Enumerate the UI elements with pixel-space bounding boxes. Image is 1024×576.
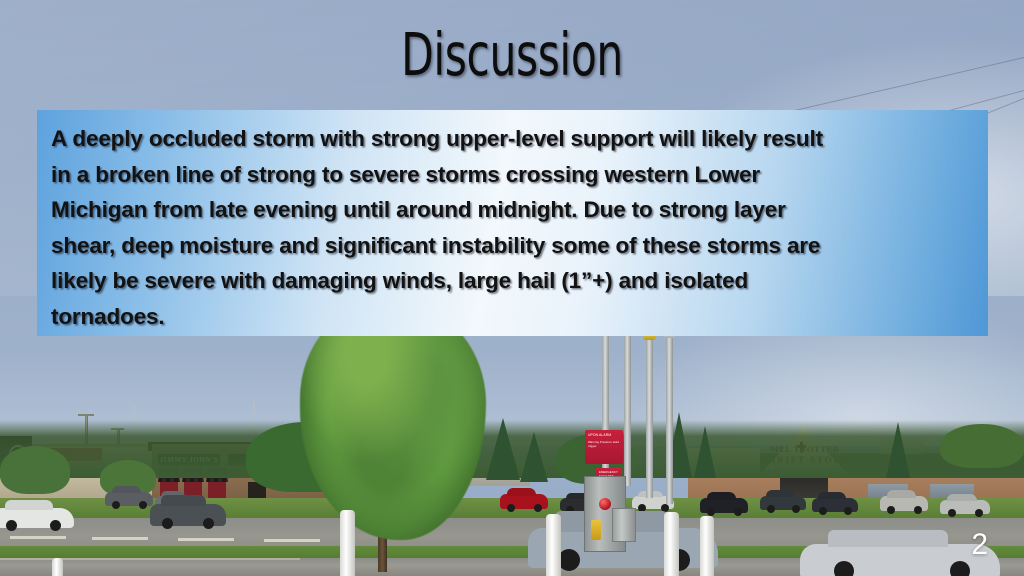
wheel: [950, 561, 970, 576]
wheel: [914, 506, 922, 514]
wheel: [534, 504, 542, 512]
wheel: [162, 518, 173, 529]
light-pole-arm: [78, 414, 94, 416]
wheel: [139, 501, 147, 509]
discussion-line-2: in a broken line of strong to severe sto…: [51, 157, 974, 193]
wheel: [507, 504, 515, 512]
wheel: [792, 505, 800, 513]
lane-marking: [264, 539, 320, 542]
bollard-post: [340, 510, 355, 576]
metal-pole: [666, 334, 673, 504]
vehicle-dark-suv: [760, 496, 806, 510]
wheel: [112, 501, 120, 509]
slide: Discussion JIMMY JOHN'S JIMMY JOHN'S: [0, 0, 1024, 576]
wheel: [887, 506, 895, 514]
vehicle-white-sedan-foreground: [0, 508, 74, 528]
vehicle-red-suv: [500, 494, 548, 509]
wheel: [203, 518, 214, 529]
shrub: [940, 424, 1024, 468]
wheel: [558, 549, 580, 571]
discussion-line-5: likely be severe with damaging winds, la…: [51, 263, 974, 299]
wheel: [948, 509, 956, 517]
vehicle-light-car-foreground: [800, 544, 1000, 576]
wheel: [6, 520, 17, 531]
upon-alarm-sign: UPON ALARM Warning Pressure Hold trigger: [585, 430, 623, 464]
slide-title: Discussion: [102, 24, 921, 86]
lane-marking: [92, 537, 148, 540]
background-photograph: JIMMY JOHN'S JIMMY JOHN'S MEL TROTTER TH…: [0, 296, 1024, 576]
wheel: [767, 505, 775, 513]
wheel: [707, 508, 715, 516]
vehicle-pickup-truck: [105, 492, 153, 506]
bollard-post: [546, 514, 561, 576]
metal-pole: [624, 332, 631, 486]
discussion-line-3: Michigan from late evening until around …: [51, 192, 974, 228]
wheel: [819, 507, 827, 515]
wheel: [834, 561, 854, 576]
discussion-line-1: A deeply occluded storm with strong uppe…: [51, 121, 974, 157]
discussion-text-box: A deeply occluded storm with strong uppe…: [37, 110, 988, 336]
discussion-line-6: tornadoes.: [51, 299, 974, 335]
wheel: [844, 507, 852, 515]
emergency-shutoff-button[interactable]: [591, 520, 601, 540]
lane-marking: [10, 536, 66, 539]
wheel: [50, 520, 61, 531]
bollard-post: [52, 558, 63, 576]
slide-number: 2: [971, 528, 988, 562]
lane-marking: [0, 558, 300, 560]
shrub: [0, 446, 70, 494]
lane-marking: [178, 538, 234, 541]
vehicle-silver-sedan: [940, 500, 990, 514]
bollard-post: [700, 516, 714, 576]
vehicle-silver-suv: [880, 496, 928, 511]
utility-cabinet-small: [612, 508, 636, 542]
wheel: [975, 509, 983, 517]
vehicle-dark-suv: [700, 498, 748, 513]
vehicle-gray-suv-foreground: [150, 504, 226, 526]
alarm-light-icon: [599, 498, 611, 510]
vehicle-dark-sedan: [812, 498, 858, 512]
metal-pole: [646, 336, 653, 498]
upon-alarm-sign-body: Warning Pressure Hold trigger: [588, 441, 620, 448]
bollard-post: [664, 512, 679, 576]
wheel: [734, 508, 742, 516]
upon-alarm-sign-title: UPON ALARM: [588, 433, 620, 437]
discussion-line-4: shear, deep moisture and significant ins…: [51, 228, 974, 264]
